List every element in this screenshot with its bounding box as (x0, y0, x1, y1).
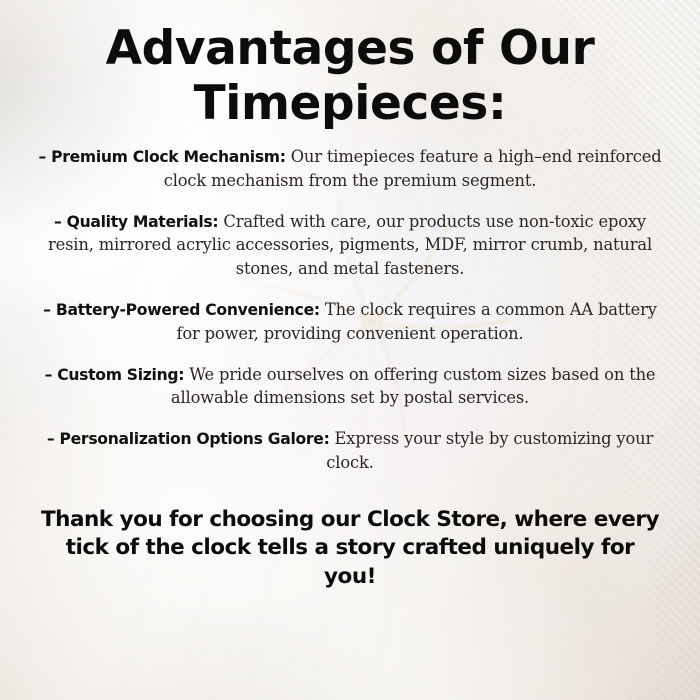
poster-heading-text: Advantages of Our Timepieces: (106, 21, 595, 131)
advantage-item-quality-materials: – Quality Materials: Crafted with care, … (18, 210, 682, 281)
poster-content: Advantages of Our Timepieces: – Premium … (0, 0, 700, 700)
advantage-lead: – Quality Materials: (54, 213, 218, 231)
poster-signoff: Thank you for choosing our Clock Store, … (18, 506, 682, 592)
advantage-lead: – Personalization Options Galore: (47, 430, 330, 448)
advantages-list: – Premium Clock Mechanism: Our timepiece… (18, 145, 682, 492)
promotional-poster: Advantages of Our Timepieces: – Premium … (0, 0, 700, 700)
advantage-lead: – Premium Clock Mechanism: (38, 148, 285, 166)
advantage-item-custom-sizing: – Custom Sizing: We pride ourselves on o… (18, 363, 682, 411)
advantage-lead: – Battery-Powered Convenience: (43, 301, 320, 319)
advantage-item-battery-powered-convenience: – Battery-Powered Convenience: The clock… (18, 298, 682, 346)
advantage-body: We pride ourselves on offering custom si… (171, 365, 656, 408)
advantage-body: Express your style by customizing your c… (326, 429, 653, 472)
advantage-item-premium-clock-mechanism: – Premium Clock Mechanism: Our timepiece… (18, 145, 682, 193)
advantage-item-personalization-options-galore: – Personalization Options Galore: Expres… (18, 427, 682, 475)
poster-heading: Advantages of Our Timepieces: (18, 22, 682, 131)
advantage-lead: – Custom Sizing: (45, 366, 185, 384)
